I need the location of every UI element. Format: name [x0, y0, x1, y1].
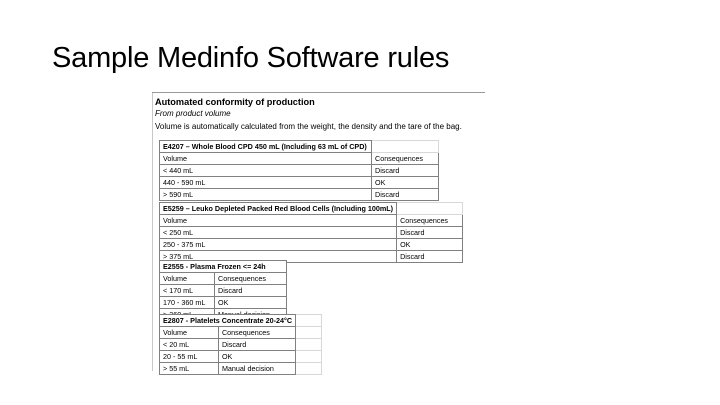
- table-row: 20 - 55 mL OK: [160, 351, 322, 363]
- rule-table-container-e2807: E2807 - Platelets Concentrate 20-24°C Vo…: [159, 314, 322, 375]
- cell-volume: 20 - 55 mL: [160, 351, 219, 363]
- table-header-row: Volume Consequences: [160, 153, 439, 165]
- table-header-row: Volume Consequences: [160, 273, 287, 285]
- cell-consequence: Discard: [372, 189, 439, 201]
- table-row: 170 - 360 mL OK: [160, 297, 287, 309]
- document-body: Automated conformity of production From …: [152, 97, 492, 132]
- table-row: < 170 mL Discard: [160, 285, 287, 297]
- cell-consequence: OK: [218, 351, 295, 363]
- cell-consequence: Discard: [218, 339, 295, 351]
- cell-volume: 440 - 590 mL: [160, 177, 372, 189]
- table-pad-cell: [296, 351, 322, 363]
- cell-volume: 170 - 360 mL: [160, 297, 215, 309]
- table-row: < 250 mL Discard: [160, 227, 463, 239]
- column-header-consequences: Consequences: [215, 273, 287, 285]
- table-title-cell: E2807 - Platelets Concentrate 20-24°C: [160, 315, 296, 327]
- cell-consequence: Discard: [397, 251, 463, 263]
- table-row: > 55 mL Manual decision: [160, 363, 322, 375]
- table-header-row: Volume Consequences: [160, 215, 463, 227]
- embedded-document: Automated conformity of production From …: [152, 92, 492, 132]
- cell-consequence: Manual decision: [218, 363, 295, 375]
- document-paragraph: Volume is automatically calculated from …: [155, 121, 492, 132]
- table-row: < 440 mL Discard: [160, 165, 439, 177]
- rule-table: E5259 – Leuko Depleted Packed Red Blood …: [159, 202, 463, 263]
- cell-consequence: Discard: [215, 285, 287, 297]
- cell-volume: < 20 mL: [160, 339, 219, 351]
- cell-volume: < 440 mL: [160, 165, 372, 177]
- column-header-volume: Volume: [160, 153, 372, 165]
- cell-volume: 250 - 375 mL: [160, 239, 397, 251]
- table-title-trailing-cell: [296, 315, 322, 327]
- column-header-volume: Volume: [160, 215, 397, 227]
- page-title: Sample Medinfo Software rules: [52, 42, 449, 75]
- table-pad-cell: [296, 363, 322, 375]
- table-header-row: Volume Consequences: [160, 327, 322, 339]
- cell-consequence: Discard: [397, 227, 463, 239]
- table-title-row: E5259 – Leuko Depleted Packed Red Blood …: [160, 203, 463, 215]
- table-pad-cell: [296, 327, 322, 339]
- table-row: > 590 mL Discard: [160, 189, 439, 201]
- rule-table: E2807 - Platelets Concentrate 20-24°C Vo…: [159, 314, 322, 375]
- table-title-trailing-cell: [372, 141, 439, 153]
- document-heading: Automated conformity of production: [155, 97, 492, 108]
- column-header-volume: Volume: [160, 273, 215, 285]
- column-header-consequences: Consequences: [372, 153, 439, 165]
- table-title-row: E4207 – Whole Blood CPD 450 mL (Includin…: [160, 141, 439, 153]
- cell-consequence: OK: [215, 297, 287, 309]
- rule-table: E4207 – Whole Blood CPD 450 mL (Includin…: [159, 140, 439, 201]
- column-header-volume: Volume: [160, 327, 219, 339]
- rule-table-container-e2555: E2555 - Plasma Frozen <= 24h Volume Cons…: [159, 260, 287, 321]
- table-title-row: E2555 - Plasma Frozen <= 24h: [160, 261, 287, 273]
- table-row: < 20 mL Discard: [160, 339, 322, 351]
- cell-consequence: OK: [397, 239, 463, 251]
- cell-volume: > 55 mL: [160, 363, 219, 375]
- table-title-trailing-cell: [397, 203, 463, 215]
- table-row: 250 - 375 mL OK: [160, 239, 463, 251]
- cell-consequence: OK: [372, 177, 439, 189]
- table-row: 440 - 590 mL OK: [160, 177, 439, 189]
- table-title-row: E2807 - Platelets Concentrate 20-24°C: [160, 315, 322, 327]
- cell-consequence: Discard: [372, 165, 439, 177]
- column-header-consequences: Consequences: [218, 327, 295, 339]
- cell-volume: < 170 mL: [160, 285, 215, 297]
- cell-volume: > 590 mL: [160, 189, 372, 201]
- table-title-cell: E5259 – Leuko Depleted Packed Red Blood …: [160, 203, 397, 215]
- table-pad-cell: [296, 339, 322, 351]
- document-left-border: [152, 93, 153, 371]
- rule-table-container-e4207: E4207 – Whole Blood CPD 450 mL (Includin…: [159, 140, 439, 201]
- rule-table: E2555 - Plasma Frozen <= 24h Volume Cons…: [159, 260, 287, 321]
- document-subheading: From product volume: [155, 109, 492, 119]
- table-title-cell: E4207 – Whole Blood CPD 450 mL (Includin…: [160, 141, 372, 153]
- rule-table-container-e5259: E5259 – Leuko Depleted Packed Red Blood …: [159, 202, 463, 263]
- document-top-rule: [152, 92, 485, 93]
- table-title-cell: E2555 - Plasma Frozen <= 24h: [160, 261, 287, 273]
- cell-volume: < 250 mL: [160, 227, 397, 239]
- column-header-consequences: Consequences: [397, 215, 463, 227]
